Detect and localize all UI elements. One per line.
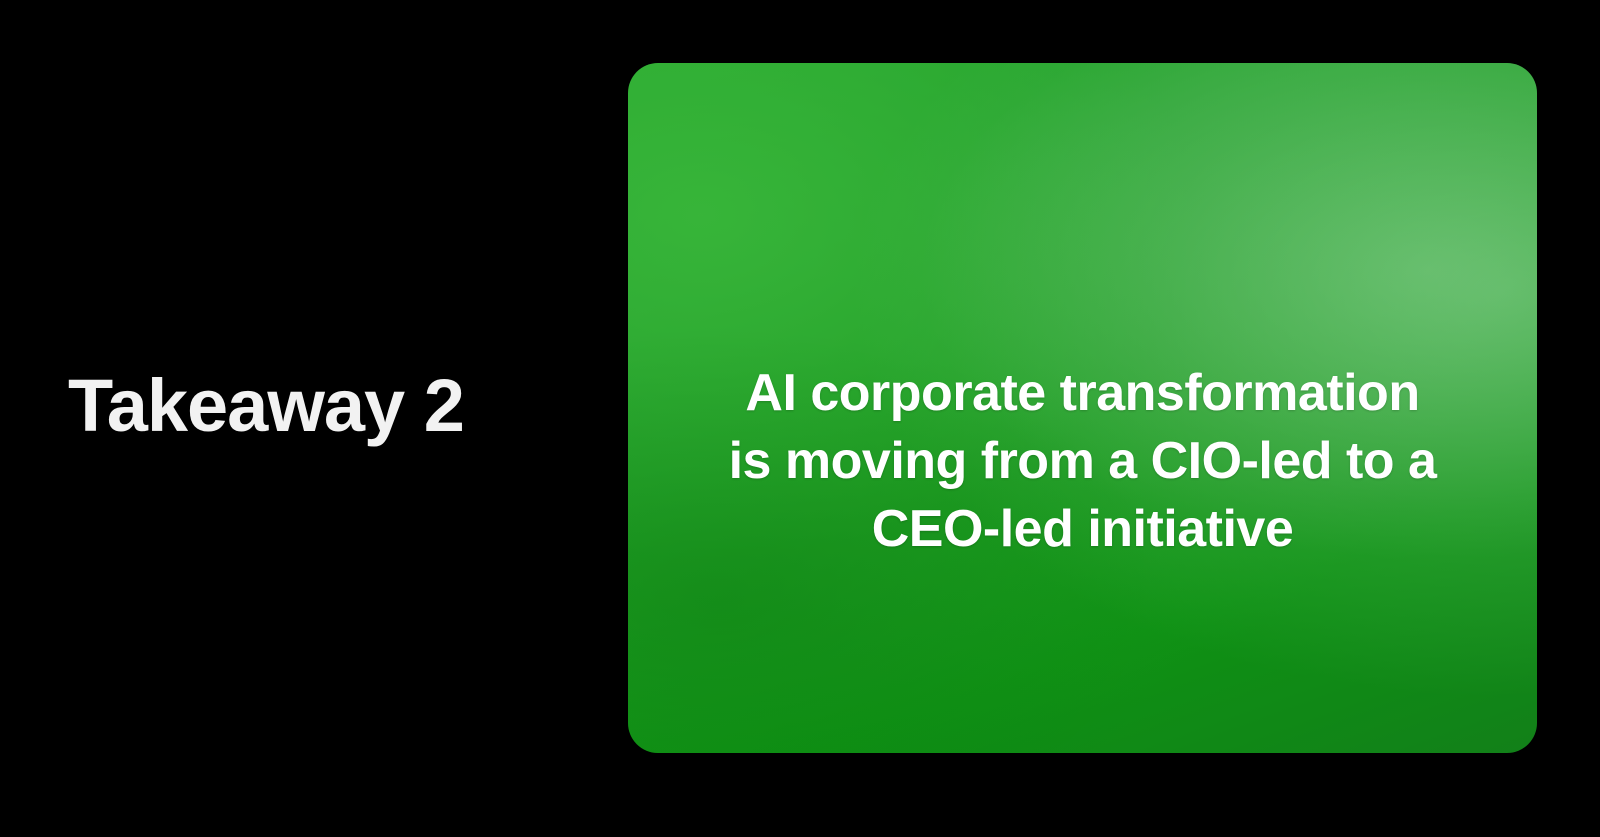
takeaway-message: AI corporate transformation is moving fr… [628, 359, 1537, 563]
takeaway-message-line-1: AI corporate transformation [668, 359, 1497, 427]
page-title: Takeaway 2 [68, 358, 588, 454]
takeaway-message-line-3: CEO-led initiative [668, 495, 1497, 563]
takeaway-card: AI corporate transformation is moving fr… [628, 63, 1537, 753]
slide-canvas: Takeaway 2 AI corporate transformation i… [0, 0, 1600, 837]
takeaway-message-line-2: is moving from a CIO-led to a [668, 427, 1497, 495]
